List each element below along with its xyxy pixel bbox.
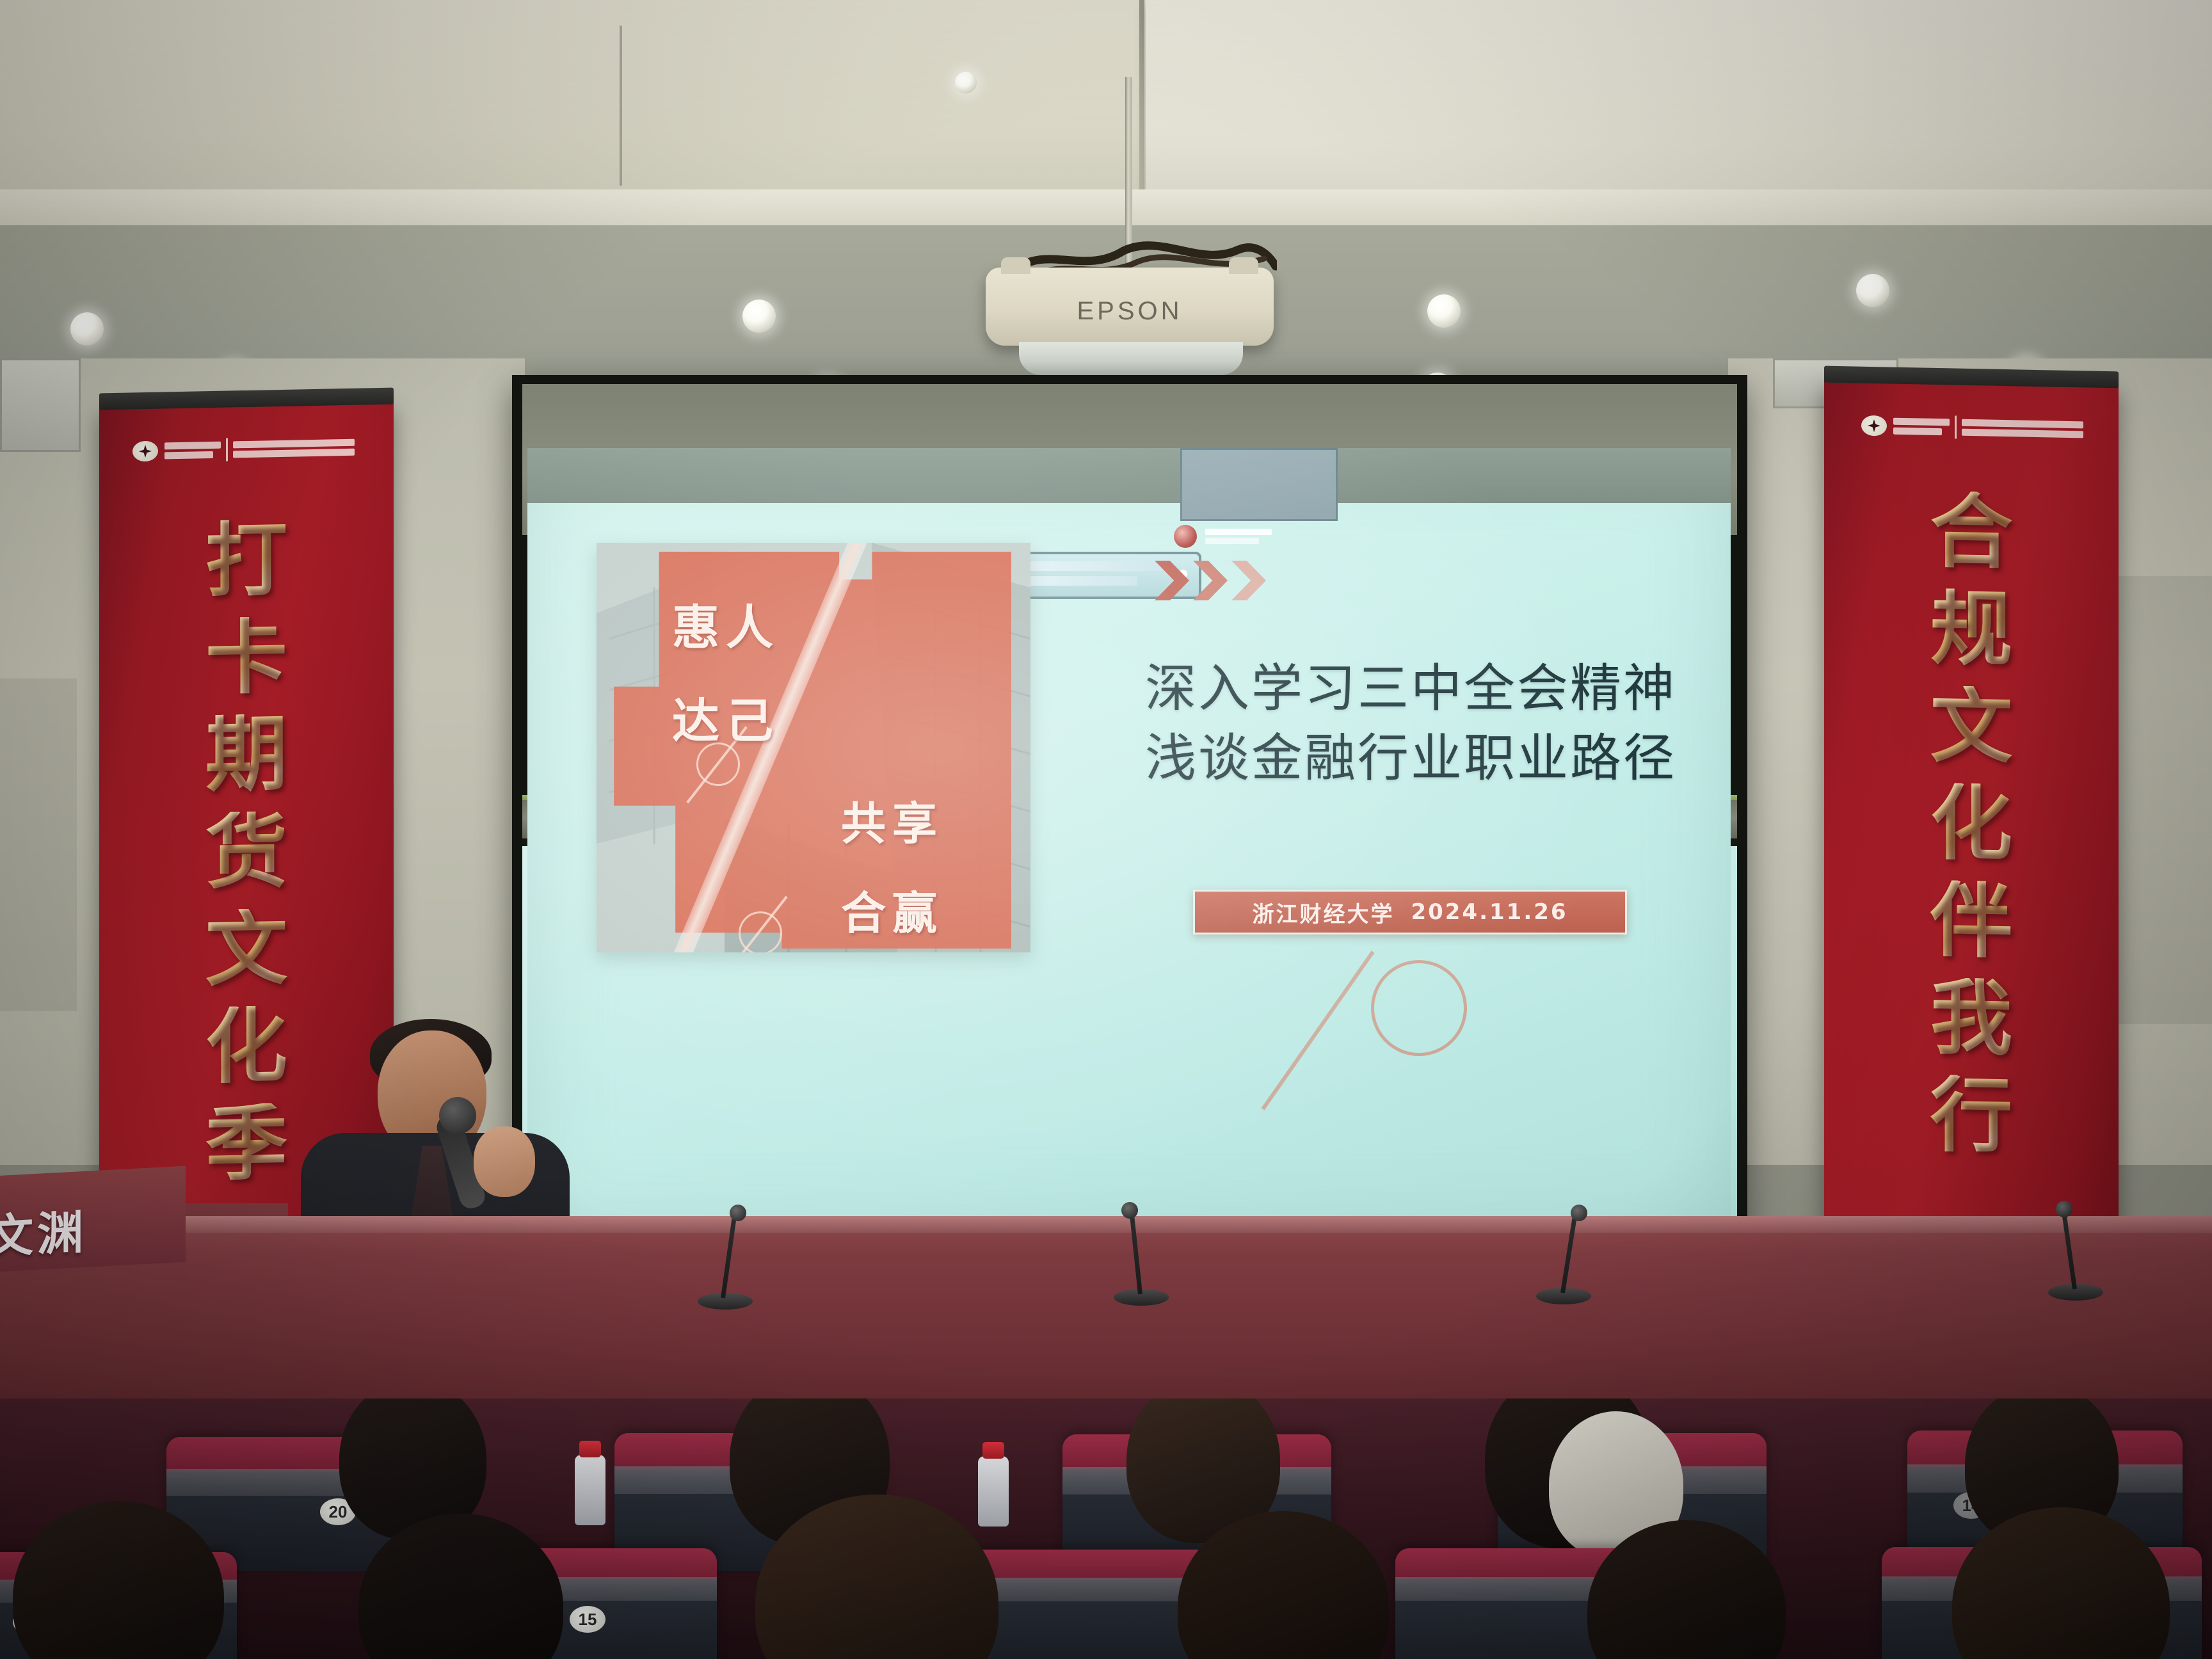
downlight-icon [742,300,776,333]
hall-name-sign: 文渊 [0,1166,186,1273]
banner-char: 行 [1930,1075,2012,1158]
projector-lens [1019,342,1243,375]
stage-lip [0,1216,2212,1233]
banner-char: 化 [1930,783,2012,866]
collage-word-3: 共享 [841,799,943,849]
water-bottle [978,1456,1009,1527]
slide-date-badge: 浙江财经大学 2024.11.26 [1193,890,1627,934]
banner-char: 货 [205,811,287,894]
hall-name-text: 文渊 [0,1194,87,1267]
badge-date: 2024.11.26 [1411,899,1567,925]
banner-char: 期 [205,714,287,797]
banner-char: 文 [205,908,287,991]
desk-mic-tip-icon [2056,1201,2072,1217]
ceiling-seam [620,26,622,186]
banner-left-logo [132,436,355,463]
bottle-cap [982,1442,1004,1459]
bottle-cap [579,1441,601,1457]
downlight-icon [955,72,977,93]
projector-brand-label: EPSON [986,297,1274,326]
watermark-slash-icon [1262,950,1375,1110]
projector: EPSON [986,268,1274,346]
banner-char: 卡 [205,616,287,700]
desk-mic-tip-icon [1571,1205,1587,1221]
ceiling-bulkhead-right [1146,0,2212,205]
seat-number-label: 15 [570,1606,605,1633]
desk-mic-tip-icon [1121,1202,1138,1219]
microphone-head-icon [439,1097,476,1134]
company-logo-icon [1861,415,1887,437]
slide-title-line-2: 浅谈金融行业职业路径 [1145,724,1695,794]
ceiling-seam-vertical [1139,0,1144,211]
company-logo-icon [132,441,158,462]
downlight-icon [1427,294,1461,328]
chevron-right-icon [1231,561,1266,600]
stage-front [0,1216,2212,1427]
chevron-group [1155,561,1266,600]
audience-area: 20 08 14 [0,1399,2212,1659]
banner-right-logo [1861,414,2083,442]
slide-top-bar [527,448,1731,503]
chevron-right-icon [1155,561,1189,600]
water-bottle [575,1455,605,1525]
banner-char: 季 [205,1103,287,1186]
wall-panel-right [2112,576,2212,1024]
slide-corner-logo [1174,525,1272,548]
lecture-hall-photo: EPSON [0,0,2212,1659]
banner-char: 打 [205,519,287,602]
downlight-icon [1856,274,1889,307]
chevron-right-icon [1193,561,1228,600]
ceiling-lip [0,189,2212,230]
banner-char: 我 [1930,977,2012,1061]
banner-char: 规 [1930,588,2012,671]
collage-word-1: 惠人 [672,602,780,655]
slide-title-line-1: 深入学习三中全会精神 [1145,654,1695,724]
ceiling-bulkhead-left [0,0,1152,192]
banner-right-text: 合 规 文 化 伴 我 行 [1824,489,2119,1160]
banner-left-text: 打 卡 期 货 文 化 季 [99,517,394,1189]
projected-slide: 惠人 达己 共享 合赢 深入学习三中全会精神 浅谈金融行业职业路径 浙江财经大学… [527,448,1731,1235]
banner-char: 伴 [1930,880,2012,963]
wall-panel-left [0,678,77,1011]
collage-word-4: 合赢 [841,888,943,938]
slide-side-panel [1180,448,1338,521]
speaker-hand [474,1126,535,1197]
slide-title-block: 深入学习三中全会精神 浅谈金融行业职业路径 [1145,654,1695,794]
banner-char: 文 [1930,685,2012,769]
slide-collage-card: 惠人 达己 共享 合赢 [597,543,1030,952]
banner-char: 化 [205,1006,287,1089]
company-logo-icon [1174,525,1197,548]
badge-organization: 浙江财经大学 [1252,897,1394,928]
air-vent-left [0,358,81,452]
collage-word-2: 达己 [672,695,780,748]
desk-mic-tip-icon [730,1205,746,1221]
watermark-ring-icon [1371,960,1467,1056]
banner-char: 合 [1930,491,2012,574]
downlight-icon [70,312,104,346]
